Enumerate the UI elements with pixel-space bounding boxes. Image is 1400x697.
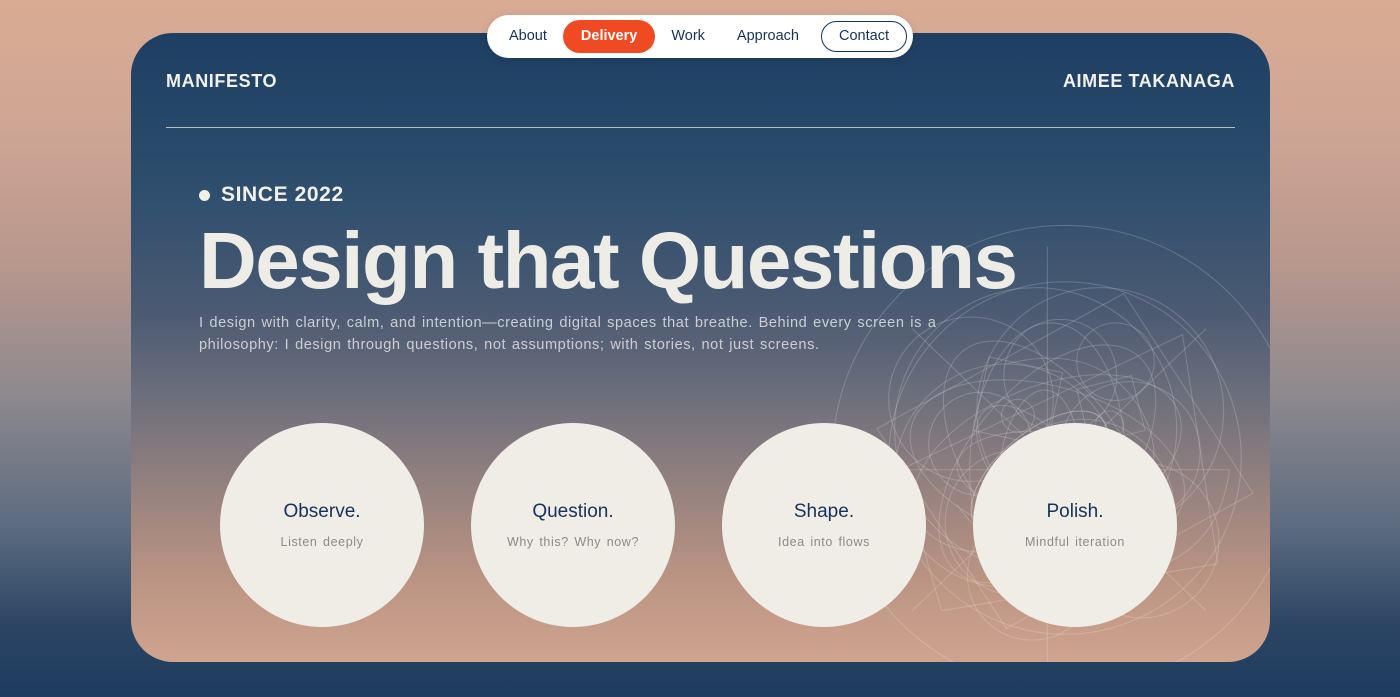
panel-header: MANIFESTO AIMEE TAKANAGA [166, 71, 1235, 92]
process-step-shape[interactable]: Shape. Idea into flows [722, 423, 926, 627]
step-title: Observe. [283, 502, 360, 521]
step-subtitle: Idea into flows [778, 536, 870, 549]
step-title: Polish. [1046, 502, 1103, 521]
step-subtitle: Listen deeply [281, 536, 364, 549]
nav-item-work[interactable]: Work [655, 21, 721, 52]
step-subtitle: Mindful iteration [1025, 536, 1125, 549]
author-name: AIMEE TAKANAGA [1063, 71, 1235, 92]
process-step-question[interactable]: Question. Why this? Why now? [471, 423, 675, 627]
eyebrow-label: SINCE 2022 [221, 183, 344, 207]
process-steps-row: Observe. Listen deeply Question. Why thi… [220, 423, 1177, 627]
nav-item-contact[interactable]: Contact [821, 21, 907, 52]
brand-title: MANIFESTO [166, 71, 277, 92]
nav-item-about[interactable]: About [493, 21, 563, 52]
page-title: Design that Questions [199, 223, 1230, 300]
nav-item-approach[interactable]: Approach [721, 21, 815, 52]
hero-description: I design with clarity, calm, and intenti… [199, 312, 939, 356]
process-step-polish[interactable]: Polish. Mindful iteration [973, 423, 1177, 627]
hero-panel: MANIFESTO AIMEE TAKANAGA SINCE 2022 Desi… [131, 33, 1270, 662]
step-title: Question. [532, 502, 613, 521]
step-subtitle: Why this? Why now? [507, 536, 639, 549]
process-step-observe[interactable]: Observe. Listen deeply [220, 423, 424, 627]
bullet-dot-icon [199, 190, 210, 201]
nav-item-delivery[interactable]: Delivery [563, 20, 655, 53]
header-divider [166, 127, 1235, 128]
eyebrow-since: SINCE 2022 [199, 183, 1230, 207]
step-title: Shape. [794, 502, 854, 521]
hero-content: SINCE 2022 Design that Questions I desig… [199, 183, 1230, 356]
top-navigation-bar: About Delivery Work Approach Contact [487, 15, 913, 58]
